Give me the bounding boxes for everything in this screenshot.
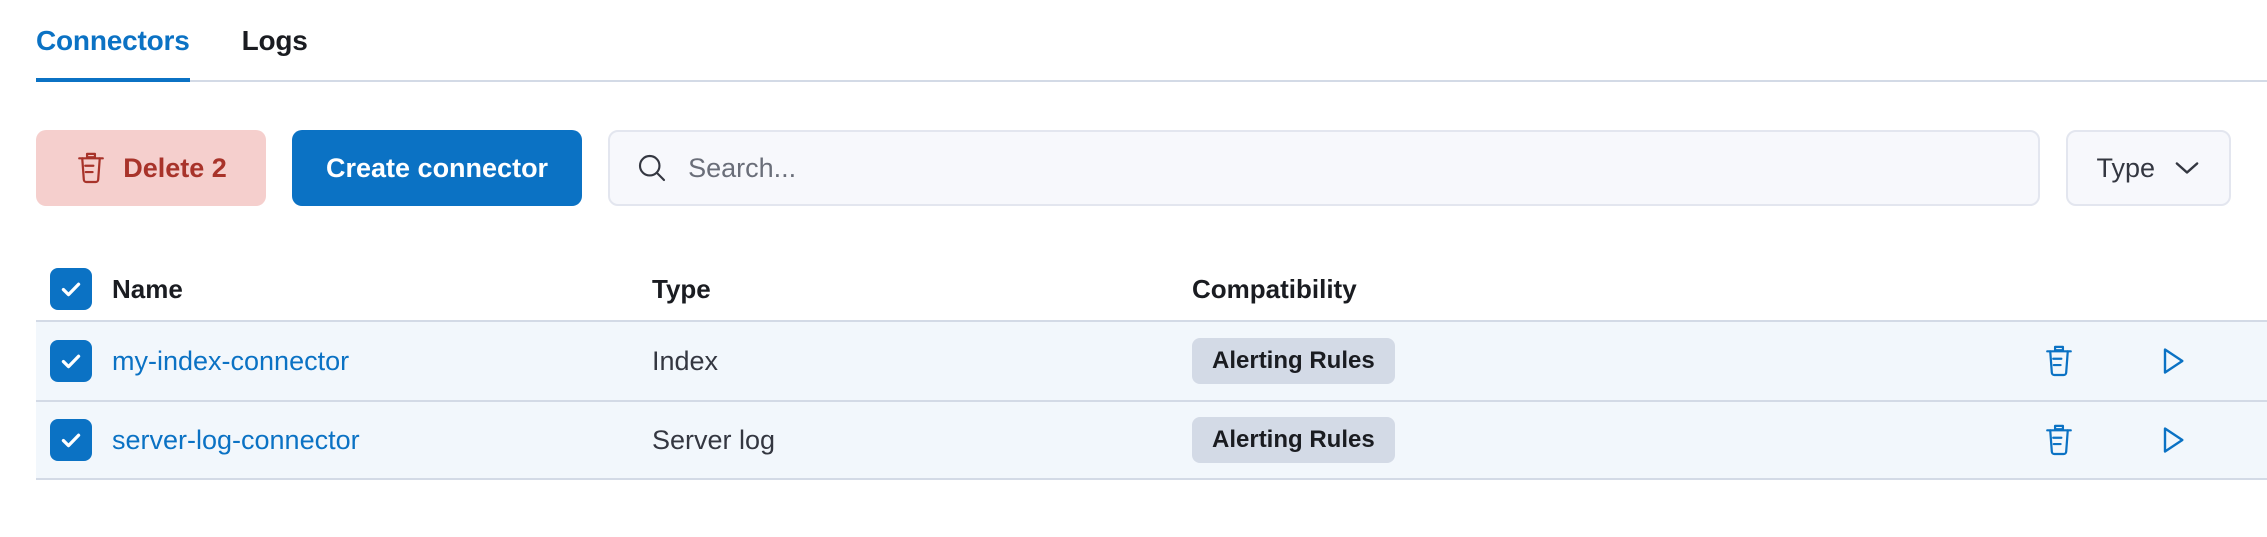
play-icon <box>2158 345 2188 377</box>
table-row: my-index-connector Index Alerting Rules <box>36 320 2267 400</box>
column-header-type[interactable]: Type <box>652 274 1192 305</box>
run-row-button[interactable] <box>2151 418 2195 462</box>
play-icon <box>2158 424 2188 456</box>
connectors-page: Connectors Logs Delete 2 Create connecto… <box>0 0 2267 537</box>
column-header-name[interactable]: Name <box>112 274 652 305</box>
connector-name-link[interactable]: server-log-connector <box>112 425 360 455</box>
search-icon <box>636 152 668 184</box>
delete-button-label: Delete 2 <box>123 153 227 184</box>
delete-row-button[interactable] <box>2037 418 2081 462</box>
tab-logs-label: Logs <box>242 25 308 57</box>
tab-bar: Connectors Logs <box>0 0 2267 82</box>
delete-button[interactable]: Delete 2 <box>36 130 266 206</box>
row-name-cell: my-index-connector <box>112 346 652 377</box>
run-row-button[interactable] <box>2151 339 2195 383</box>
select-all-checkbox[interactable] <box>50 268 92 310</box>
select-all-cell <box>36 268 112 310</box>
tab-connectors-label: Connectors <box>36 25 190 57</box>
toolbar: Delete 2 Create connector Type <box>36 130 2231 206</box>
check-icon <box>58 348 84 374</box>
row-actions-cell <box>2017 339 2267 383</box>
tab-connectors[interactable]: Connectors <box>36 0 220 82</box>
row-select-cell <box>36 340 112 382</box>
row-compatibility-cell: Alerting Rules <box>1192 338 2017 384</box>
connectors-table: Name Type Compatibility my-index-connect… <box>36 258 2267 480</box>
delete-row-button[interactable] <box>2037 339 2081 383</box>
row-actions-cell <box>2017 418 2267 462</box>
row-compatibility-cell: Alerting Rules <box>1192 417 2017 463</box>
check-icon <box>58 276 84 302</box>
check-icon <box>58 427 84 453</box>
type-filter-dropdown[interactable]: Type <box>2066 130 2231 206</box>
row-checkbox[interactable] <box>50 419 92 461</box>
row-name-cell: server-log-connector <box>112 425 652 456</box>
table-row: server-log-connector Server log Alerting… <box>36 400 2267 480</box>
create-connector-button[interactable]: Create connector <box>292 130 582 206</box>
search-field[interactable] <box>608 130 2040 206</box>
search-input[interactable] <box>688 153 2012 184</box>
table-header-row: Name Type Compatibility <box>36 258 2267 320</box>
row-select-cell <box>36 419 112 461</box>
row-checkbox[interactable] <box>50 340 92 382</box>
create-connector-label: Create connector <box>326 153 548 184</box>
row-type-cell: Index <box>652 346 1192 377</box>
trash-icon <box>75 151 107 185</box>
tab-logs[interactable]: Logs <box>220 0 330 82</box>
chevron-down-icon <box>2173 159 2201 177</box>
type-filter-label: Type <box>2096 153 2155 184</box>
status-badge: Alerting Rules <box>1192 417 1395 463</box>
status-badge: Alerting Rules <box>1192 338 1395 384</box>
column-header-compatibility[interactable]: Compatibility <box>1192 274 2017 305</box>
trash-icon <box>2043 344 2075 378</box>
connector-name-link[interactable]: my-index-connector <box>112 346 349 376</box>
trash-icon <box>2043 423 2075 457</box>
row-type-cell: Server log <box>652 425 1192 456</box>
